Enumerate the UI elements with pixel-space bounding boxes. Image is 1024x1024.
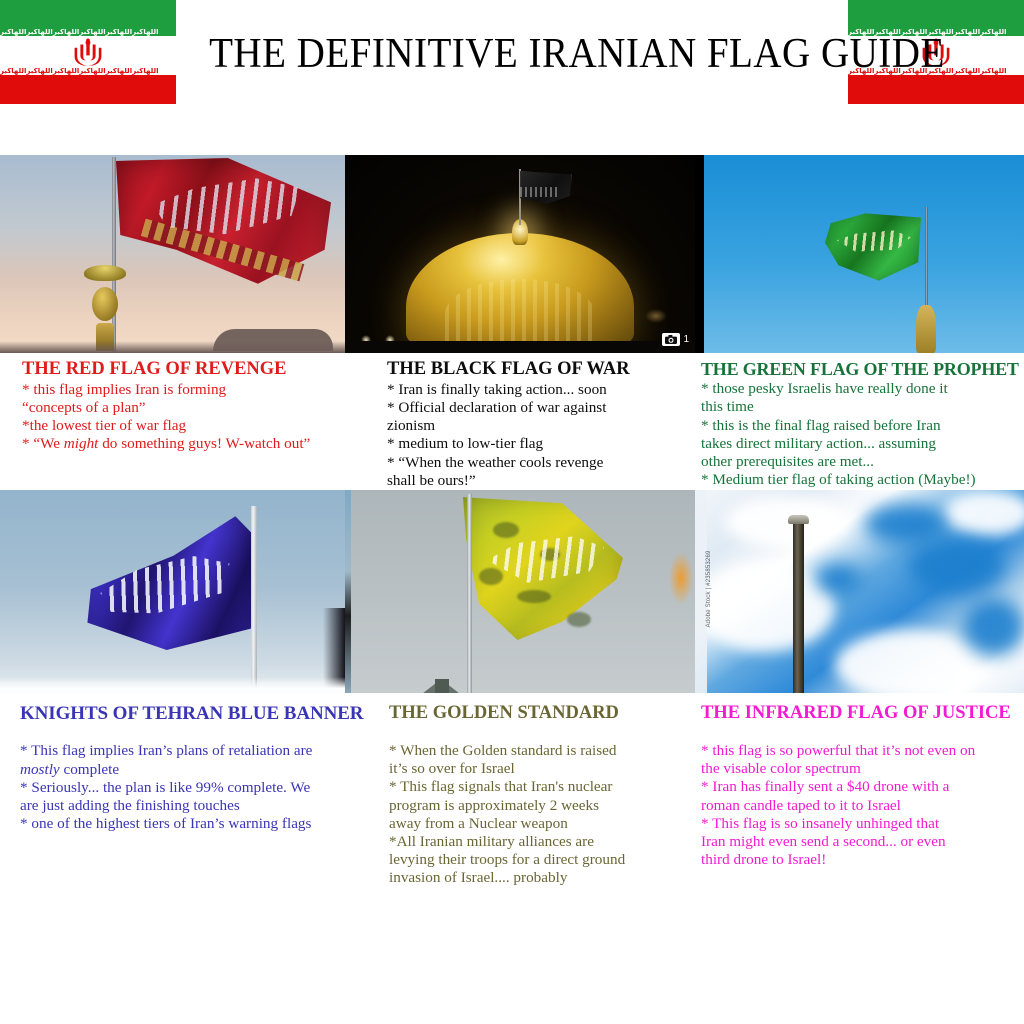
caption-blue: KNIGHTS OF TEHRAN BLUE BANNER * This fla… xyxy=(0,693,345,833)
card-line: * This flag implies Iran’s plans of reta… xyxy=(20,742,339,760)
card-line: *All Iranian military alliances are xyxy=(389,833,687,851)
card-line: other prerequisites are met... xyxy=(701,453,1022,471)
cloud xyxy=(725,496,845,548)
card-the-golden-standard: THE GOLDEN STANDARD * When the Golden st… xyxy=(345,490,695,888)
card-line: “concepts of a plan” xyxy=(22,399,339,417)
card-line: third drone to Israel! xyxy=(701,851,1022,869)
blue-sky-patch xyxy=(865,504,945,544)
caption-infrared: THE INFRARED FLAG OF JUSTICE * this flag… xyxy=(695,693,1024,869)
card-title: THE INFRARED FLAG OF JUSTICE xyxy=(701,703,1022,724)
caption-golden: THE GOLDEN STANDARD * When the Golden st… xyxy=(345,693,695,888)
iran-emblem-icon xyxy=(71,37,105,67)
empty-flagpole xyxy=(793,520,804,693)
card-line: * “When the weather cools revenge xyxy=(387,454,687,472)
card-line: * This flag signals that Iran's nuclear xyxy=(389,778,687,796)
card-title: THE GOLDEN STANDARD xyxy=(389,703,687,724)
card-title: THE RED FLAG OF REVENGE xyxy=(22,359,339,380)
card-line: * this flag is so powerful that it’s not… xyxy=(701,742,1022,760)
caption-red: THE RED FLAG OF REVENGE * this flag impl… xyxy=(0,353,345,454)
photo-yellow-flag xyxy=(345,490,695,693)
card-line: away from a Nuclear weapon xyxy=(389,815,687,833)
flag-kufic-top: اللهاكبراللهاكبراللهاكبراللهاكبراللهاكبر… xyxy=(0,29,176,36)
flagpole xyxy=(467,494,472,693)
cloud xyxy=(695,562,835,652)
photo-blue-flag xyxy=(0,490,345,693)
card-line: Iran might even send a second... or even xyxy=(701,833,1022,851)
page-header: اللهاكبراللهاكبراللهاكبراللهاكبراللهاكبر… xyxy=(0,0,1024,155)
card-line: * Seriously... the plan is like 99% comp… xyxy=(20,779,339,797)
card-body: * this flag implies Iran is forming “con… xyxy=(22,381,339,454)
snow-ground xyxy=(0,677,345,693)
card-body: * Iran is finally taking action... soon … xyxy=(387,381,687,490)
flag-row-bottom: KNIGHTS OF TEHRAN BLUE BANNER * This fla… xyxy=(0,490,1024,888)
card-line: * one of the highest tiers of Iran’s war… xyxy=(20,815,339,833)
card-title: THE BLACK FLAG OF WAR xyxy=(387,359,687,380)
card-body: * When the Golden standard is raised it’… xyxy=(389,742,687,888)
blue-sky-patch xyxy=(815,564,861,594)
card-line: *the lowest tier of war flag xyxy=(22,417,339,435)
photo-count-value: 1 xyxy=(683,334,689,345)
lamp-body xyxy=(435,679,449,693)
black-flag-calligraphy xyxy=(520,187,558,197)
flag-spot xyxy=(479,568,503,585)
flag-grid: THE RED FLAG OF REVENGE * this flag impl… xyxy=(0,155,1024,888)
flagpole-cap xyxy=(788,515,809,524)
card-infrared-flag-of-justice: Adobe Stock | #235853269 THE INFRARED FL… xyxy=(695,490,1024,869)
street-light xyxy=(645,309,667,323)
blue-sky-patch xyxy=(963,598,1024,656)
lamp-head xyxy=(84,265,126,281)
card-line: * Official declaration of war against xyxy=(387,399,687,417)
lamp-body xyxy=(92,287,118,321)
card-line: * Medium tier flag of taking action (May… xyxy=(701,471,1022,489)
card-line: are just adding the finishing touches xyxy=(20,797,339,815)
photo-left-border xyxy=(695,155,704,353)
card-line: * Iran has finally sent a $40 drone with… xyxy=(701,778,1022,796)
card-body: * this flag is so powerful that it’s not… xyxy=(701,742,1022,870)
card-title: THE GREEN FLAG OF THE PROPHET xyxy=(701,359,1022,379)
card-line: program is approximately 2 weeks xyxy=(389,797,687,815)
card-green-flag-of-the-prophet: THE GREEN FLAG OF THE PROPHET * those pe… xyxy=(695,155,1024,490)
page-title: THE DEFINITIVE IRANIAN FLAG GUIDE xyxy=(209,30,823,78)
flag-shadow-spots xyxy=(345,490,695,693)
card-line: levying their troops for a direct ground xyxy=(389,851,687,869)
flag-spot xyxy=(493,522,519,538)
golden-finial xyxy=(916,305,936,353)
card-line: * this is the final flag raised before I… xyxy=(701,417,1022,435)
flag-kufic-bottom: اللهاكبراللهاكبراللهاكبراللهاكبراللهاكبر… xyxy=(0,68,176,75)
caption-green: THE GREEN FLAG OF THE PROPHET * those pe… xyxy=(695,353,1024,490)
flag-spot xyxy=(567,612,591,627)
card-line: zionism xyxy=(387,417,687,435)
card-body: * those pesky Israelis have really done … xyxy=(701,380,1022,489)
flag-guide-page: اللهاكبراللهاكبراللهاكبراللهاكبراللهاكبر… xyxy=(0,0,1024,1024)
photo-count-badge: 1 xyxy=(662,332,689,347)
card-line: * those pesky Israelis have really done … xyxy=(701,380,1022,398)
camera-glyph xyxy=(665,335,677,344)
caption-black: THE BLACK FLAG OF WAR * Iran is finally … xyxy=(345,353,695,490)
card-line: * This flag is so insanely unhinged that xyxy=(701,815,1022,833)
card-line: the visable color spectrum xyxy=(701,760,1022,778)
blue-sky-patch xyxy=(909,538,1005,594)
card-line: it’s so over for Israel xyxy=(389,760,687,778)
cloud xyxy=(943,490,1024,536)
card-line: invasion of Israel.... probably xyxy=(389,869,687,887)
ground-shadow xyxy=(0,341,345,353)
adobe-stock-watermark: Adobe Stock | #235853269 xyxy=(706,541,712,637)
card-body: * This flag implies Iran’s plans of reta… xyxy=(20,742,339,833)
card-line: roman candle taped to it to Israel xyxy=(701,797,1022,815)
flag-row-top: THE RED FLAG OF REVENGE * this flag impl… xyxy=(0,155,1024,490)
card-knights-of-tehran-blue-banner: KNIGHTS OF TEHRAN BLUE BANNER * This fla… xyxy=(0,490,345,833)
card-title: KNIGHTS OF TEHRAN BLUE BANNER xyxy=(20,703,339,724)
card-line: * Iran is finally taking action... soon xyxy=(387,381,687,399)
photo-empty-flagpole: Adobe Stock | #235853269 xyxy=(695,490,1024,693)
cloud xyxy=(835,630,985,693)
photo-red-flag xyxy=(0,155,345,353)
card-line: * medium to low-tier flag xyxy=(387,435,687,453)
card-line: * this flag implies Iran is forming xyxy=(22,381,339,399)
dome-highlight xyxy=(445,279,595,349)
card-line: * When the Golden standard is raised xyxy=(389,742,687,760)
flag-spot xyxy=(517,590,551,603)
card-line: this time xyxy=(701,398,1022,416)
iran-flag-left: اللهاكبراللهاكبراللهاكبراللهاكبراللهاكبر… xyxy=(0,0,176,104)
card-red-flag-of-revenge: THE RED FLAG OF REVENGE * this flag impl… xyxy=(0,155,345,454)
flagpole xyxy=(251,506,257,693)
photo-green-flag xyxy=(695,155,1024,353)
card-line: * “We might do something guys! W-watch o… xyxy=(22,435,339,453)
card-line: shall be ours!” xyxy=(387,472,687,490)
courtyard-wall xyxy=(345,341,695,353)
card-black-flag-of-war: 1 THE BLACK FLAG OF WAR * Iran is finall… xyxy=(345,155,695,490)
photo-golden-dome: 1 xyxy=(345,155,695,353)
camera-icon xyxy=(662,333,680,346)
card-line: takes direct military action... assuming xyxy=(701,435,1022,453)
card-line: mostly complete xyxy=(20,761,339,779)
